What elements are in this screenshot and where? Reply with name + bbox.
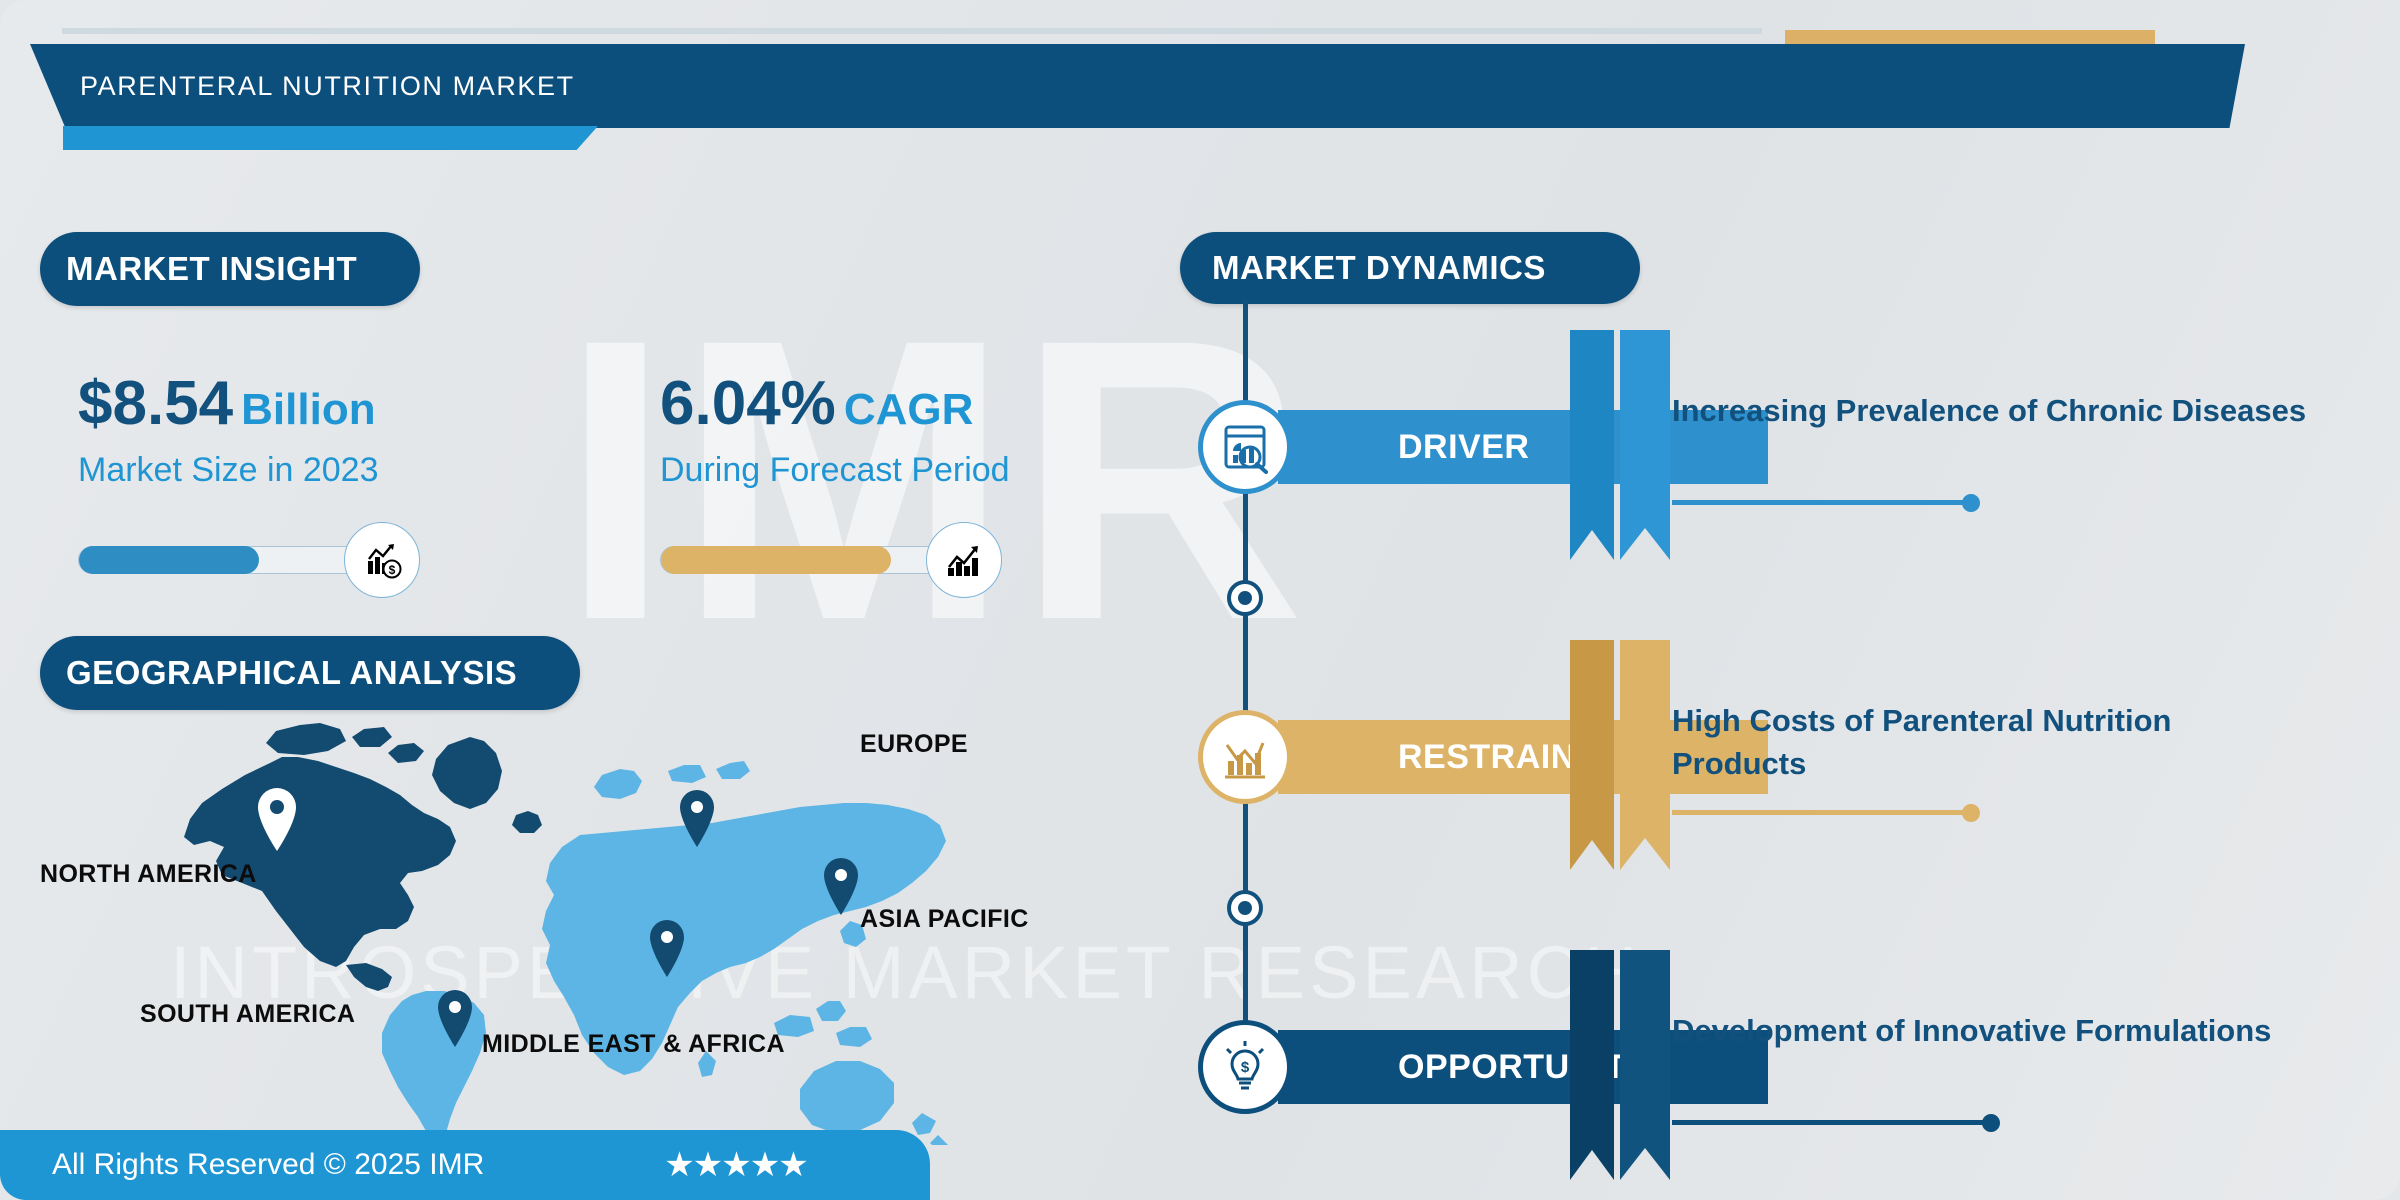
stat-unit: Billion xyxy=(241,385,375,434)
svg-text:$: $ xyxy=(1241,1059,1250,1076)
restraint-connector xyxy=(1672,810,1972,815)
bar-chart-dollar-icon: $ xyxy=(344,522,420,598)
infographic-page: IMR INTROSPECTIVE MARKET RESEARCH PARENT… xyxy=(0,0,2400,1200)
driver-ribbon xyxy=(1570,330,1670,565)
header-thin-rule xyxy=(62,28,1762,34)
progress-track xyxy=(78,546,378,574)
section-label-market-dynamics: MARKET DYNAMICS xyxy=(1180,232,1640,304)
header-underline-accent xyxy=(63,126,598,150)
progress-fill xyxy=(79,546,259,574)
map-label-europe: EUROPE xyxy=(860,730,968,759)
stat-market-size: $8.54Billion Market Size in 2023 xyxy=(78,368,379,490)
section-label-market-insight: MARKET INSIGHT xyxy=(40,232,420,306)
lightbulb-idea-icon: $ xyxy=(1198,1020,1292,1114)
timeline-node-2 xyxy=(1227,890,1263,926)
stat-unit: CAGR xyxy=(844,385,974,434)
growth-chart-icon xyxy=(926,522,1002,598)
report-search-icon xyxy=(1198,400,1292,494)
map-label-middle-east-africa: MIDDLE EAST & AFRICA xyxy=(482,1030,785,1059)
stat-value: 6.04% xyxy=(660,369,836,438)
driver-connector xyxy=(1672,500,1972,505)
svg-text:$: $ xyxy=(389,563,396,577)
footer-bar: All Rights Reserved © 2025 IMR ★★★★★ xyxy=(0,1130,930,1200)
rating-stars: ★★★★★ xyxy=(664,1145,806,1185)
driver-text: Increasing Prevalence of Chronic Disease… xyxy=(1672,390,2312,433)
opportunity-connector xyxy=(1672,1120,1992,1125)
driver-label: DRIVER xyxy=(1398,428,1529,467)
stat-cagr: 6.04%CAGR During Forecast Period xyxy=(660,368,1010,490)
map-label-north-america: NORTH AMERICA xyxy=(40,860,257,889)
section-label-geographical-analysis: GEOGRAPHICAL ANALYSIS xyxy=(40,636,580,710)
opportunity-ribbon xyxy=(1570,950,1670,1185)
restraint-text: High Costs of Parenteral Nutrition Produ… xyxy=(1672,700,2312,786)
map-label-asia-pacific: ASIA PACIFIC xyxy=(860,905,1029,934)
progress-fill xyxy=(661,546,891,574)
timeline-node-1 xyxy=(1227,580,1263,616)
restraint-ribbon xyxy=(1570,640,1670,875)
progress-track xyxy=(660,546,960,574)
stat-value: $8.54 xyxy=(78,369,233,438)
stat-caption: During Forecast Period xyxy=(660,451,1010,490)
stat-caption: Market Size in 2023 xyxy=(78,451,379,490)
progress-cagr xyxy=(660,522,1002,598)
progress-market-size: $ xyxy=(78,522,420,598)
opportunity-text: Development of Innovative Formulations xyxy=(1672,1010,2312,1053)
map-label-south-america: SOUTH AMERICA xyxy=(140,1000,355,1029)
copyright-text: All Rights Reserved © 2025 IMR xyxy=(52,1148,484,1182)
page-title: PARENTERAL NUTRITION MARKET xyxy=(80,71,575,102)
declining-chart-icon xyxy=(1198,710,1292,804)
restraint-label: RESTRAINT xyxy=(1398,738,1597,777)
header-banner: PARENTERAL NUTRITION MARKET xyxy=(30,44,2245,128)
